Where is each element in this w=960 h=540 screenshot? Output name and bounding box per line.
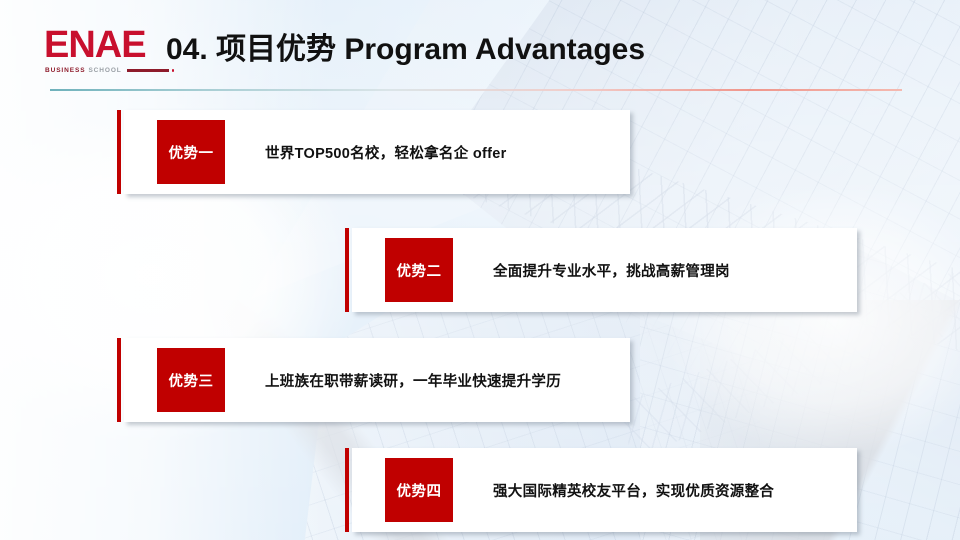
card-text: 全面提升专业水平，挑战高薪管理岗	[493, 260, 730, 281]
advantage-card-3[interactable]: 优势三 上班族在职带薪读研，一年毕业快速提升学历	[117, 338, 630, 422]
logo-rule	[127, 69, 169, 72]
slide-header: ENAE BUSINESS SCHOOL 04. 项目优势 Program Ad…	[0, 0, 960, 92]
advantage-card-1[interactable]: 优势一 世界TOP500名校，轻松拿名企 offer	[117, 110, 630, 194]
card-badge: 优势二	[385, 238, 453, 302]
card-text: 世界TOP500名校，轻松拿名企 offer	[265, 142, 507, 163]
card-badge: 优势一	[157, 120, 225, 184]
page-title: 04. 项目优势 Program Advantages	[166, 24, 645, 68]
presentation-slide: ENAE BUSINESS SCHOOL 04. 项目优势 Program Ad…	[0, 0, 960, 540]
card-body: 优势四 强大国际精英校友平台，实现优质资源整合	[352, 448, 857, 532]
advantage-card-4[interactable]: 优势四 强大国际精英校友平台，实现优质资源整合	[345, 448, 857, 532]
card-body: 优势一 世界TOP500名校，轻松拿名企 offer	[124, 110, 630, 194]
card-badge: 优势四	[385, 458, 453, 522]
card-body: 优势二 全面提升专业水平，挑战高薪管理岗	[352, 228, 857, 312]
card-body: 优势三 上班族在职带薪读研，一年毕业快速提升学历	[124, 338, 630, 422]
logo-subtitle-business: BUSINESS	[45, 67, 85, 74]
logo-subtitle: BUSINESS SCHOOL	[45, 67, 174, 74]
logo-subtitle-school: SCHOOL	[88, 67, 121, 74]
card-accent-bar	[117, 110, 121, 194]
card-accent-bar	[117, 338, 121, 422]
logo-wordmark: ENAE	[44, 26, 160, 64]
header-divider	[50, 89, 902, 91]
card-text: 强大国际精英校友平台，实现优质资源整合	[493, 480, 774, 501]
card-accent-bar	[345, 448, 349, 532]
enae-logo: ENAE BUSINESS SCHOOL	[44, 26, 160, 74]
logo-dot-icon	[172, 69, 175, 72]
card-accent-bar	[345, 228, 349, 312]
card-text: 上班族在职带薪读研，一年毕业快速提升学历	[265, 370, 561, 391]
advantage-card-2[interactable]: 优势二 全面提升专业水平，挑战高薪管理岗	[345, 228, 857, 312]
card-badge: 优势三	[157, 348, 225, 412]
